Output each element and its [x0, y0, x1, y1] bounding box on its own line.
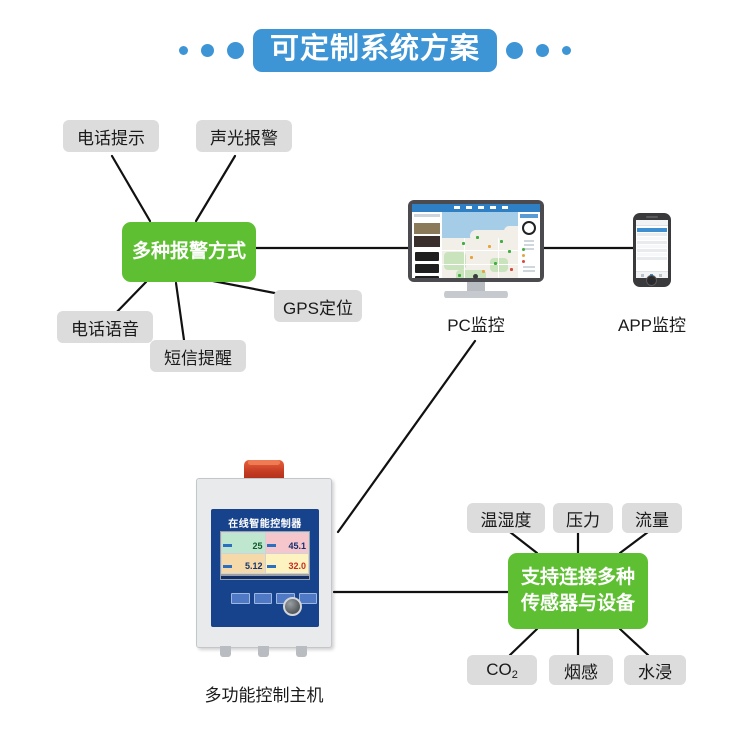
- controller-host-illustration[interactable]: 在线智能控制器 25 45.1 5.12: [196, 460, 332, 672]
- monitor-power-dot: [473, 274, 478, 279]
- pc-monitor-illustration[interactable]: [408, 200, 544, 300]
- label-co2[interactable]: CO2: [467, 655, 537, 685]
- cable-gland-2: [258, 646, 269, 657]
- phone-table-row: [637, 237, 667, 240]
- reading-flow-value: 5.12: [222, 562, 263, 571]
- reading-flow-head: [223, 555, 264, 559]
- caption-app-monitor-text: APP监控: [618, 316, 686, 335]
- app-phone-illustration[interactable]: [633, 213, 671, 287]
- cable-gland-1: [220, 646, 231, 657]
- controller-panel-title: 在线智能控制器: [211, 515, 319, 530]
- label-audible-visual-alarm[interactable]: 声光报警: [196, 120, 292, 152]
- monitor-neck: [467, 282, 485, 291]
- label-sms-reminder-text: 短信提醒: [164, 344, 232, 369]
- label-co2-subscript: 2: [512, 669, 518, 681]
- caption-app-monitor: APP监控: [602, 311, 702, 336]
- wire-audible-visual: [196, 156, 235, 221]
- monitor-screen: [412, 204, 540, 278]
- phone-tab-icon-1: [641, 274, 644, 277]
- cable-gland-3: [296, 646, 307, 657]
- label-gps-location-text: GPS定位: [283, 294, 353, 319]
- wire-temp-humidity: [510, 532, 537, 553]
- reading-humidity: 45.1: [266, 533, 309, 553]
- label-temp-humidity-text: 温湿度: [481, 506, 532, 531]
- label-co2-text: CO2: [486, 660, 518, 681]
- phone-tab-icon-3: [659, 274, 662, 277]
- reading-temp-value: 25: [222, 542, 263, 551]
- label-temp-humidity[interactable]: 温湿度: [467, 503, 545, 533]
- node-alarm-methods[interactable]: 多种报警方式: [122, 222, 256, 282]
- caption-pc-monitor-text: PC监控: [447, 316, 505, 335]
- caption-controller-host: 多功能控制主机: [186, 681, 342, 706]
- node-alarm-methods-text: 多种报警方式: [132, 239, 246, 265]
- monitor-bezel: [408, 200, 544, 282]
- screen-right-panel: [518, 212, 540, 278]
- diagram-canvas: 可定制系统方案: [0, 0, 750, 737]
- caption-pc-monitor: PC监控: [408, 311, 544, 336]
- screen-thumbnail-2: [414, 236, 440, 247]
- label-water-immersion[interactable]: 水浸: [624, 655, 686, 685]
- reading-humidity-value: 45.1: [266, 542, 307, 551]
- wire-water: [620, 629, 648, 655]
- label-phone-prompt-text: 电话提示: [77, 124, 145, 149]
- screen-topbar-menu: [454, 206, 514, 209]
- phone-navbar: [636, 220, 668, 226]
- wire-co2: [510, 629, 537, 655]
- reading-temp: 25: [222, 533, 265, 553]
- controller-front-panel: 在线智能控制器 25 45.1 5.12: [211, 509, 319, 627]
- wire-controller-to-pc: [338, 341, 475, 532]
- phone-table-header: [637, 228, 667, 232]
- phone-table-row: [637, 249, 667, 252]
- label-voice-call[interactable]: 电话语音: [57, 311, 153, 343]
- wire-flow: [620, 532, 648, 553]
- screen-map: [442, 212, 518, 278]
- label-pressure[interactable]: 压力: [553, 503, 613, 533]
- phone-table-row: [637, 233, 667, 236]
- caption-controller-host-text: 多功能控制主机: [205, 686, 324, 705]
- label-flow[interactable]: 流量: [622, 503, 682, 533]
- phone-table-row: [637, 257, 667, 260]
- label-phone-prompt[interactable]: 电话提示: [63, 120, 159, 152]
- label-water-immersion-text: 水浸: [638, 658, 672, 683]
- screen-thumbnail-1: [414, 223, 440, 234]
- reading-pressure-head: [267, 555, 308, 559]
- phone-speaker: [646, 216, 658, 218]
- screen-left-row: [414, 214, 440, 217]
- wire-phone-prompt: [112, 156, 150, 221]
- screen-left-panel: [412, 212, 442, 278]
- reading-humidity-head: [267, 534, 308, 538]
- controller-key-2[interactable]: [254, 593, 273, 604]
- monitor-base: [444, 291, 508, 298]
- node-sensor-support[interactable]: 支持连接多种 传感器与设备: [508, 553, 648, 629]
- controller-indicator-strip: [220, 575, 310, 580]
- node-sensor-support-line2: 传感器与设备: [521, 593, 635, 614]
- screen-left-button-3: [415, 276, 439, 278]
- screen-left-button-1: [415, 252, 439, 261]
- gauge-icon: [522, 221, 536, 235]
- phone-screen: [636, 220, 668, 278]
- reading-flow: 5.12: [222, 554, 265, 574]
- phone-table-row: [637, 253, 667, 256]
- reading-pressure: 32.0: [266, 554, 309, 574]
- screen-right-header: [520, 214, 538, 218]
- phone-table-row: [637, 241, 667, 244]
- phone-home-button: [646, 275, 657, 286]
- controller-enclosure: 在线智能控制器 25 45.1 5.12: [196, 478, 332, 648]
- screen-topbar: [412, 204, 540, 212]
- phone-body: [633, 213, 671, 287]
- label-audible-visual-alarm-text: 声光报警: [210, 124, 278, 149]
- reading-temp-head: [223, 534, 264, 538]
- node-sensor-support-line1: 支持连接多种: [521, 567, 635, 588]
- label-flow-text: 流量: [635, 506, 669, 531]
- wire-sms: [176, 283, 184, 340]
- label-pressure-text: 压力: [566, 506, 600, 531]
- alarm-beacon-cap: [248, 460, 280, 465]
- node-sensor-support-text: 支持连接多种 传感器与设备: [521, 565, 635, 616]
- label-smoke-text: 烟感: [564, 658, 598, 683]
- label-smoke[interactable]: 烟感: [549, 655, 613, 685]
- label-sms-reminder[interactable]: 短信提醒: [150, 340, 246, 372]
- reading-pressure-value: 32.0: [266, 562, 307, 571]
- controller-lcd-display: 25 45.1 5.12 32.0: [220, 531, 310, 575]
- controller-keypad[interactable]: [231, 593, 317, 604]
- label-gps-location[interactable]: GPS定位: [274, 290, 362, 322]
- screen-left-button-2: [415, 264, 439, 273]
- label-voice-call-text: 电话语音: [71, 315, 139, 340]
- phone-table-row: [637, 245, 667, 248]
- controller-knob[interactable]: [283, 597, 302, 616]
- controller-key-1[interactable]: [231, 593, 250, 604]
